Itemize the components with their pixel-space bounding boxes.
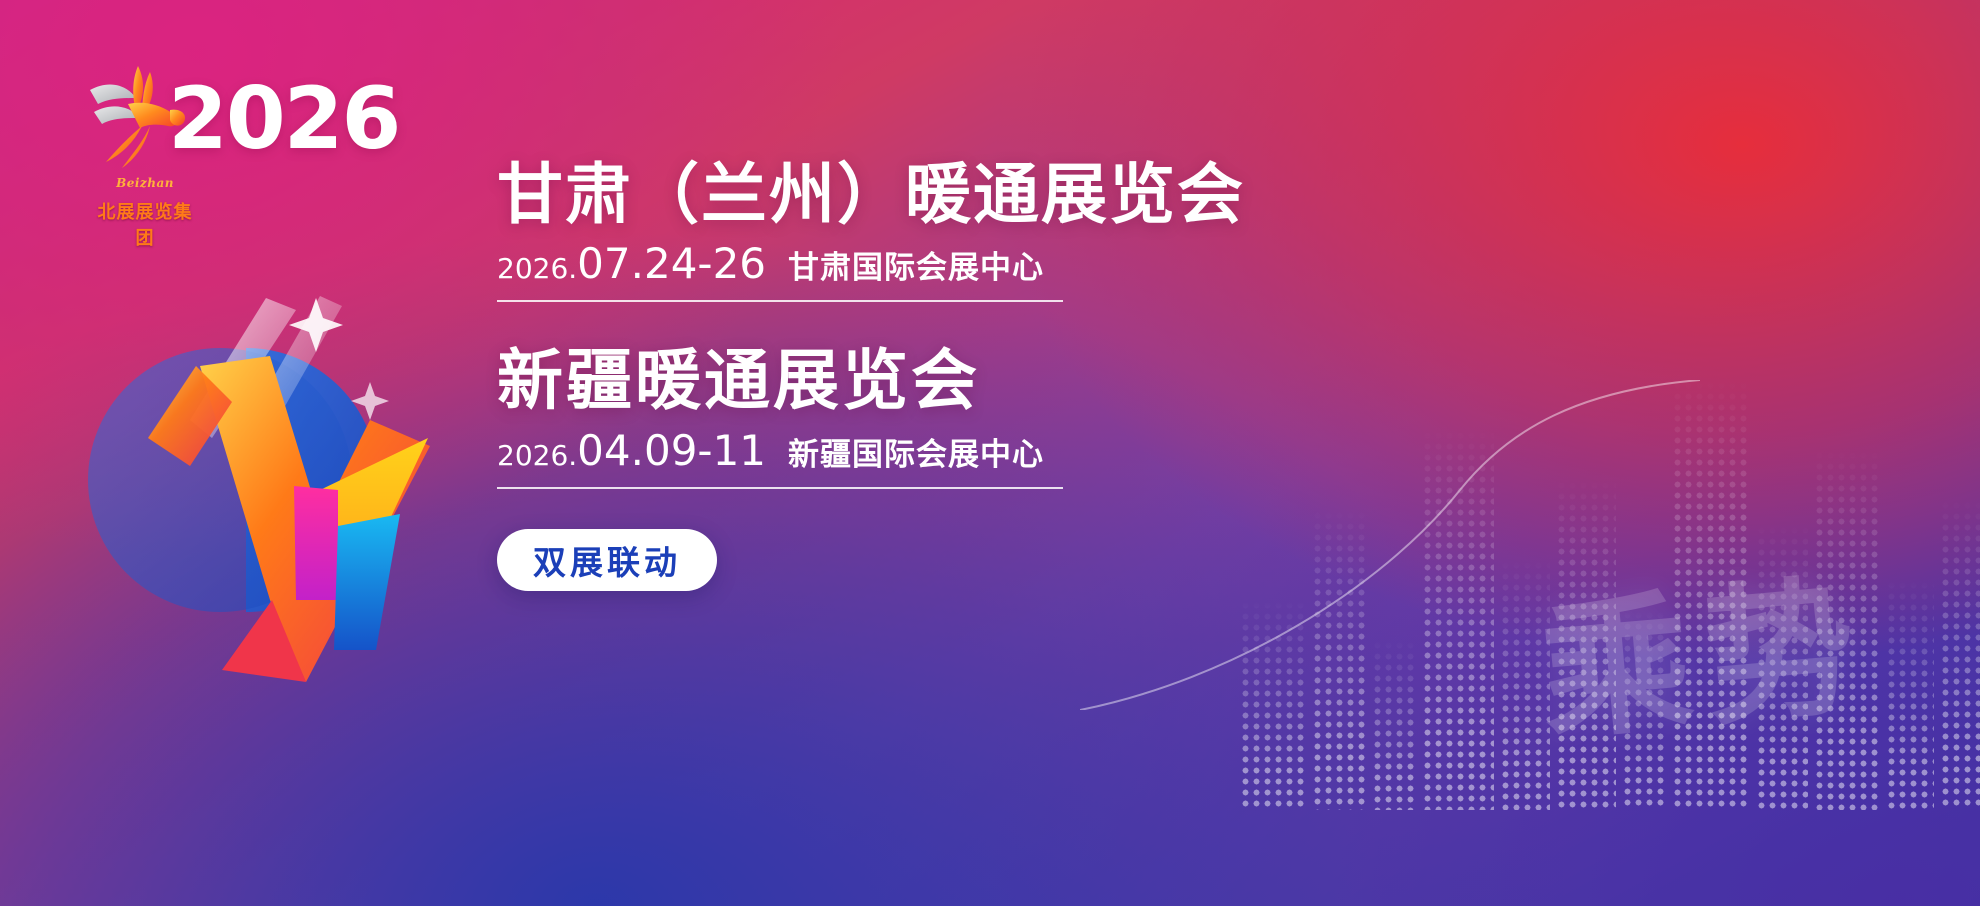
exhibition-meta-1: 2026. 07.24-26 甘肃国际会展中心 [497, 239, 1317, 288]
brand-name-cn: 北展展览集团 [90, 198, 200, 250]
exhibition-date-md-1: 07.24-26 [577, 239, 766, 288]
brand-pinyin: Beizhan [90, 176, 200, 190]
exhibition-date-year-2: 2026. [497, 439, 577, 472]
exhibition-venue-1: 甘肃国际会展中心 [788, 242, 1044, 287]
dual-exhibition-cta-button[interactable]: 双展联动 [497, 529, 717, 591]
exhibition-date-year-1: 2026. [497, 252, 577, 285]
abstract-wd-arrow-mark [70, 270, 490, 700]
exhibition-block-1: 甘肃（兰州）暖通展览会 2026. 07.24-26 甘肃国际会展中心 [497, 160, 1317, 302]
year-label: 2026 [168, 76, 399, 162]
promo-banner: 乘势 Beizhan 北展展 [0, 0, 1980, 906]
exhibition-title-2: 新疆暖通展览会 [497, 346, 1317, 415]
exhibition-venue-2: 新疆国际会展中心 [788, 429, 1044, 474]
exhibition-content: 甘肃（兰州）暖通展览会 2026. 07.24-26 甘肃国际会展中心 新疆暖通… [497, 160, 1317, 591]
exhibition-meta-2: 2026. 04.09-11 新疆国际会展中心 [497, 426, 1317, 475]
exhibition-title-1: 甘肃（兰州）暖通展览会 [497, 160, 1317, 229]
divider-2 [497, 487, 1063, 489]
calligraphy-decoration: 乘势 [1531, 525, 1877, 770]
exhibition-block-2: 新疆暖通展览会 2026. 04.09-11 新疆国际会展中心 [497, 346, 1317, 488]
exhibition-date-md-2: 04.09-11 [577, 426, 766, 475]
divider-1 [497, 300, 1063, 302]
